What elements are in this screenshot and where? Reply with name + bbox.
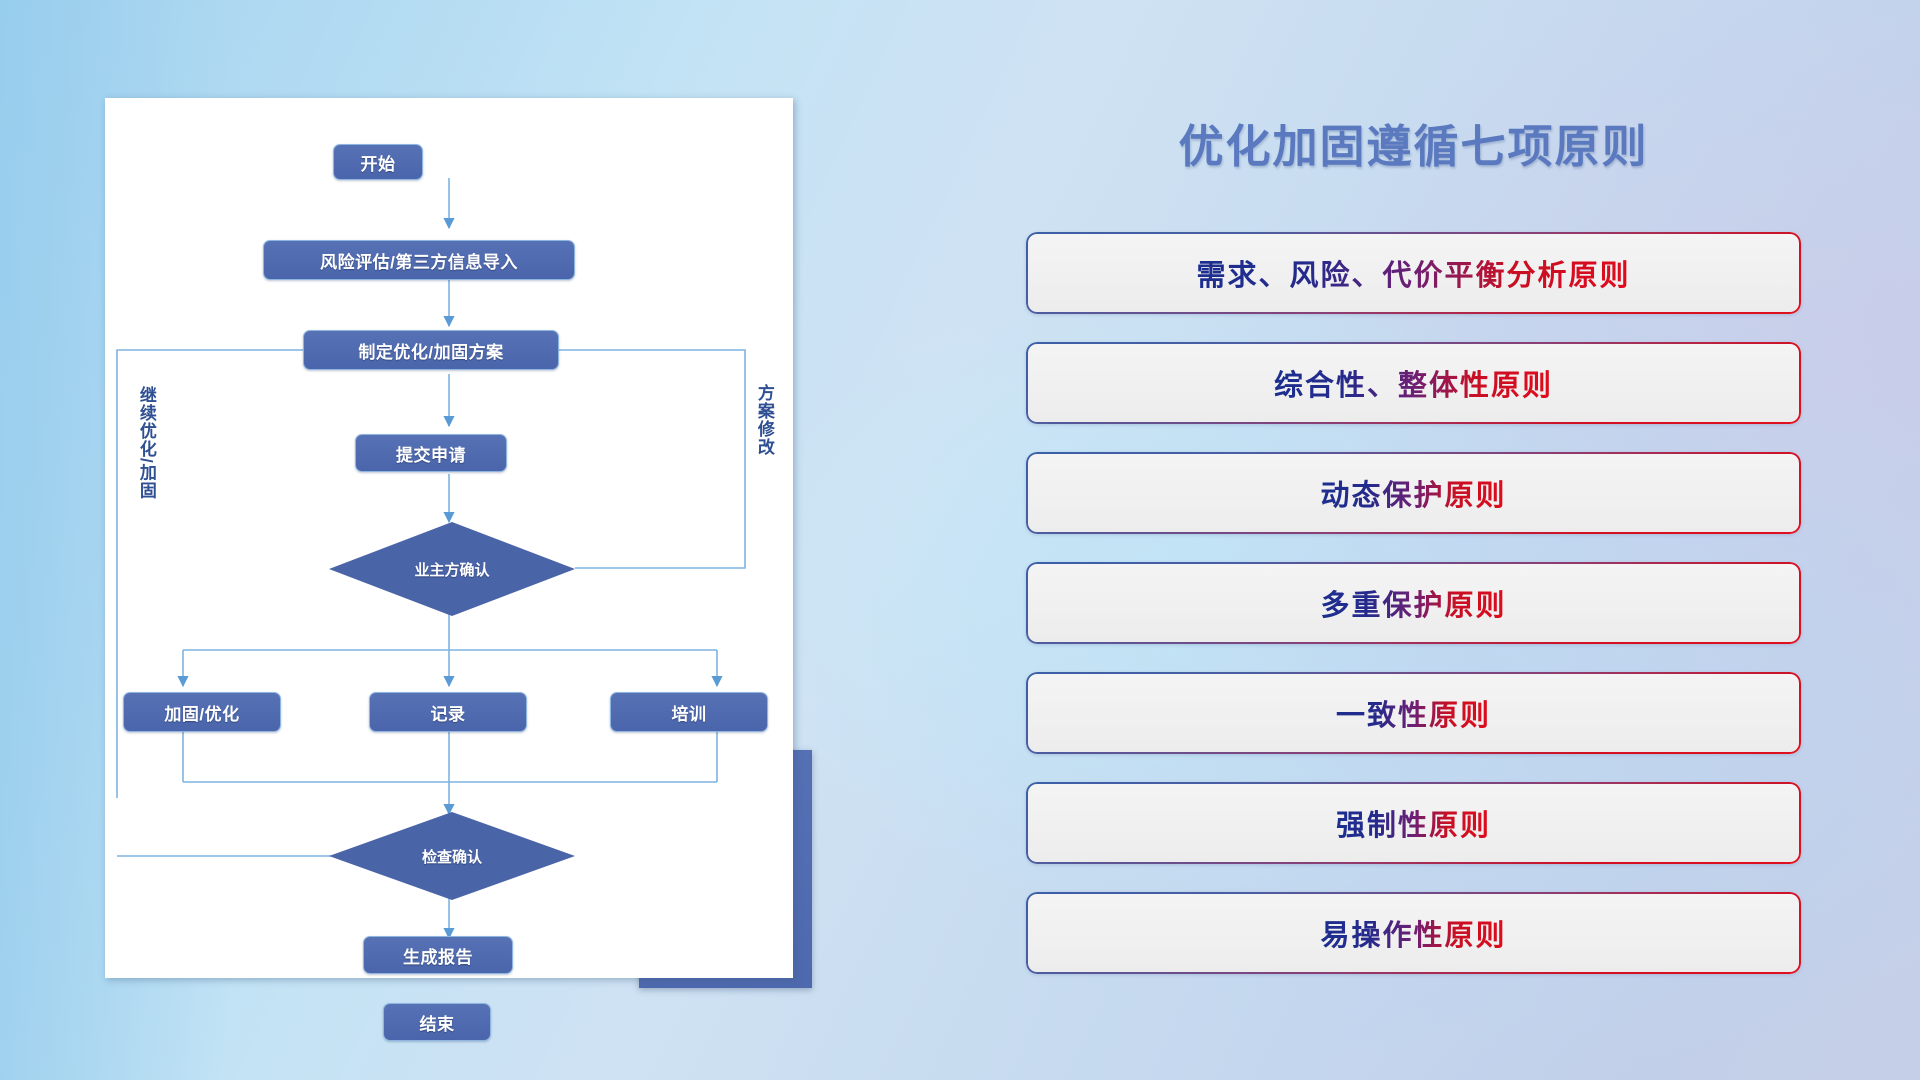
principle-card[interactable]: 一致性原则	[1026, 672, 1801, 754]
flow-node-training[interactable]: 培训	[610, 692, 768, 732]
principle-label: 动态保护原则	[1320, 472, 1506, 514]
panel-title: 优化加固遵循七项原则	[1026, 110, 1801, 175]
principle-card[interactable]: 需求、风险、代价平衡分析原则	[1026, 232, 1801, 314]
principle-label: 多重保护原则	[1320, 582, 1506, 624]
principle-label: 需求、风险、代价平衡分析原则	[1196, 252, 1630, 294]
principle-card[interactable]: 综合性、整体性原则	[1026, 342, 1801, 424]
principle-card[interactable]: 多重保护原则	[1026, 562, 1801, 644]
principle-label: 强制性原则	[1336, 802, 1491, 844]
principle-card[interactable]: 动态保护原则	[1026, 452, 1801, 534]
flow-node-end[interactable]: 结束	[383, 1003, 491, 1041]
flow-edge-label-continue-optimize: 继续优化/加固	[137, 386, 155, 566]
flow-node-risk-assessment[interactable]: 风险评估/第三方信息导入	[263, 240, 575, 280]
flow-node-make-plan[interactable]: 制定优化/加固方案	[303, 330, 559, 370]
flow-node-start[interactable]: 开始	[333, 144, 423, 180]
flow-edge-label-plan-revision: 方案修改	[755, 384, 773, 534]
flow-node-reinforce-optimize[interactable]: 加固/优化	[123, 692, 281, 732]
flowchart-card: 开始 风险评估/第三方信息导入 制定优化/加固方案 提交申请 业主方确认 加固/…	[105, 98, 793, 978]
principle-card[interactable]: 强制性原则	[1026, 782, 1801, 864]
principle-label: 综合性、整体性原则	[1274, 362, 1553, 404]
flow-node-generate-report[interactable]: 生成报告	[363, 936, 513, 974]
principles-list: 需求、风险、代价平衡分析原则 综合性、整体性原则 动态保护原则 多重保护原则 一…	[1026, 232, 1801, 1002]
principle-label: 易操作性原则	[1320, 912, 1506, 954]
principle-card[interactable]: 易操作性原则	[1026, 892, 1801, 974]
principle-label: 一致性原则	[1336, 692, 1491, 734]
flow-node-record[interactable]: 记录	[369, 692, 527, 732]
flow-node-submit-application[interactable]: 提交申请	[355, 434, 507, 472]
